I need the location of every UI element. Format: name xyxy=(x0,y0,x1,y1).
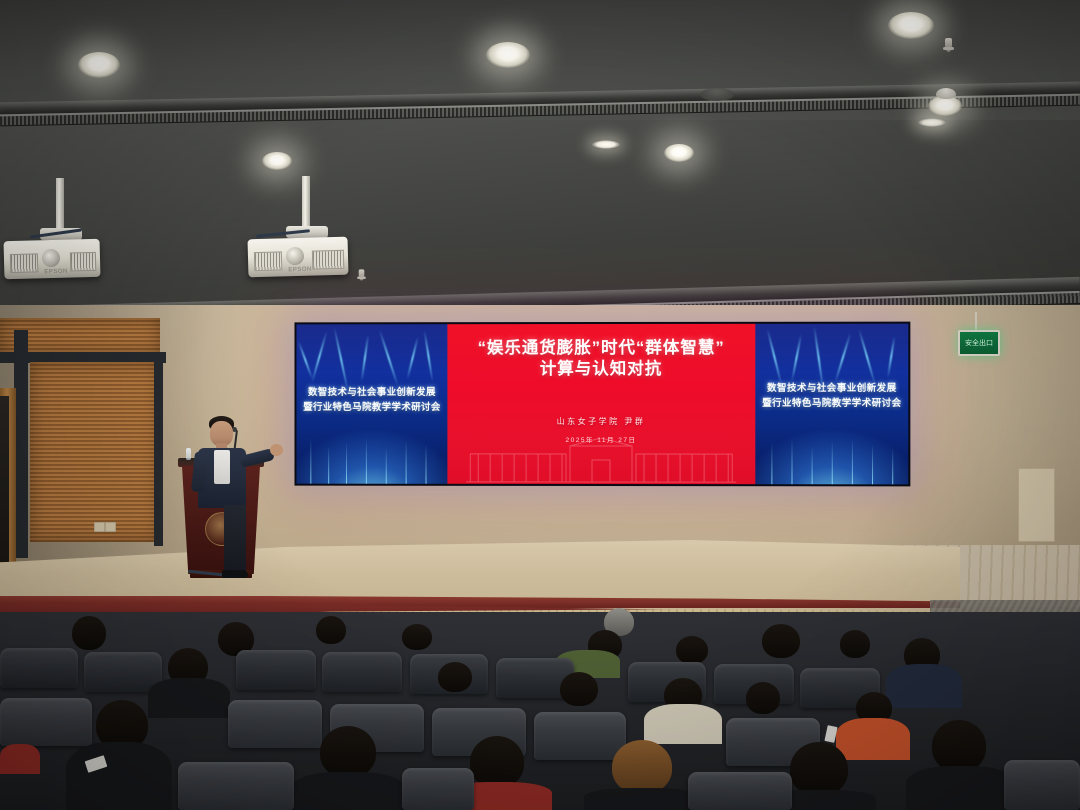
ceiling-downlight-3 xyxy=(888,12,934,39)
audience-head xyxy=(762,624,800,658)
auditorium-seat[interactable] xyxy=(228,700,322,748)
auditorium-seat[interactable] xyxy=(1004,760,1080,810)
led-title-line-2: 计算与认知对抗 xyxy=(447,359,755,380)
led-left-line2: 暨行业特色马院教学学术研讨会 xyxy=(296,401,447,416)
led-panel-right: 数智技术与社会事业创新发展 暨行业特色马院教学学术研讨会 xyxy=(755,324,908,485)
projector-2-vent-grill-2 xyxy=(312,250,344,270)
projector-1-vent-grill xyxy=(10,253,39,273)
audience-head xyxy=(746,682,780,714)
auditorium-seat[interactable] xyxy=(322,652,402,692)
led-right-text-block: 数智技术与社会事业创新发展 暨行业特色马院教学学术研讨会 xyxy=(755,382,908,412)
projector-1-mount-pole xyxy=(56,178,64,232)
led-panel-left: 数智技术与社会事业创新发展 暨行业特色马院教学学术研讨会 xyxy=(296,324,447,484)
auditorium-seat[interactable] xyxy=(178,762,294,810)
audience-head xyxy=(320,726,376,778)
auditorium-seat[interactable] xyxy=(0,648,78,688)
led-panel-center: “娱乐通货膨胀”时代“群体智慧” 计算与认知对抗 山东女子学院 尹群 2025年… xyxy=(447,324,755,484)
audience-shoulders xyxy=(836,718,910,760)
projector-1-brand-label: EPSON xyxy=(44,269,68,276)
led-title-line-1: “娱乐通货膨胀”时代“群体智慧” xyxy=(447,338,755,359)
smoke-detector-icon xyxy=(936,88,956,99)
led-title-block: “娱乐通货膨胀”时代“群体智慧” 计算与认知对抗 xyxy=(447,338,755,379)
ceiling-downlight-5 xyxy=(664,144,694,162)
audience-shoulders xyxy=(644,704,722,744)
audience-head xyxy=(790,742,848,796)
auditorium-seat[interactable] xyxy=(402,768,474,810)
led-affiliation: 山东女子学院 尹群 xyxy=(447,416,755,427)
auditorium-seat[interactable] xyxy=(534,712,626,760)
audience-head xyxy=(612,740,672,794)
projector-2-mount-pole xyxy=(302,176,310,230)
sprinkler-head-icon xyxy=(945,38,952,52)
projector-2: EPSON xyxy=(248,237,349,278)
led-right-line1: 数智技术与社会事业创新发展 xyxy=(755,382,908,397)
ceiling-downlight-1 xyxy=(78,52,120,78)
audience-head xyxy=(316,616,346,644)
audience-head xyxy=(840,630,870,658)
ceiling-speaker-dome xyxy=(700,88,734,101)
audience-head xyxy=(932,720,986,772)
exit-sign-label: 安全出口 xyxy=(965,340,993,347)
audience-shoulders xyxy=(292,772,404,810)
projector-2-brand-label: EPSON xyxy=(288,267,312,274)
audience-shoulders xyxy=(148,678,230,718)
ceiling-downlight-6 xyxy=(928,96,962,116)
audience-shoulders xyxy=(584,788,700,810)
auditorium-seat[interactable] xyxy=(0,698,92,746)
audience-shoulders xyxy=(66,742,172,810)
side-door-glass xyxy=(0,396,9,562)
led-left-text-block: 数智技术与社会事业创新发展 暨行业特色马院教学学术研讨会 xyxy=(296,386,447,415)
audience-head xyxy=(470,736,524,788)
auditorium-photo: EPSON EPSON 安全出口 xyxy=(0,0,1080,810)
auditorium-seat[interactable] xyxy=(688,772,792,810)
wall-socket-plate-left[interactable] xyxy=(94,522,105,532)
projector-2-lens xyxy=(286,247,304,265)
exit-sign: 安全出口 xyxy=(958,330,1000,356)
projector-1: EPSON xyxy=(4,239,101,279)
wall-trim-vertical-right xyxy=(154,360,163,546)
wall-access-panel-right[interactable] xyxy=(1018,468,1055,542)
audience-shoulders xyxy=(886,664,962,708)
audience-head xyxy=(402,624,432,650)
projector-1-vent-grill-2 xyxy=(70,252,97,272)
speaker-shirt xyxy=(214,450,230,484)
speaker-gesturing-hand xyxy=(270,444,283,456)
led-building-watermark-icon xyxy=(466,438,736,484)
auditorium-seat[interactable] xyxy=(84,652,162,692)
speaker-legs xyxy=(224,505,246,575)
led-right-line2: 暨行业特色马院教学学术研讨会 xyxy=(755,397,908,412)
ceiling-downlight-2 xyxy=(486,42,530,68)
projector-1-lens xyxy=(42,249,60,267)
audience-head xyxy=(438,662,472,692)
audience-head xyxy=(560,672,598,706)
ceiling-striplight-1 xyxy=(592,140,620,149)
ceiling-downlight-4 xyxy=(262,152,292,170)
auditorium-seat[interactable] xyxy=(236,650,316,690)
audience-head xyxy=(676,636,708,664)
led-display-screen: 数智技术与社会事业创新发展 暨行业特色马院教学学术研讨会 “娱乐通货膨胀”时代“… xyxy=(294,322,910,487)
projector-2-vent-grill xyxy=(254,251,283,271)
wood-slat-panel-main xyxy=(30,362,160,542)
wall-socket-plate-left-2[interactable] xyxy=(105,522,116,532)
sprinkler-head-icon-2 xyxy=(359,269,365,280)
audience-shoulders xyxy=(906,766,1016,810)
audience-shoulders xyxy=(0,744,40,774)
wall-trim-vertical-left xyxy=(14,330,28,558)
speaker-shoe xyxy=(222,570,248,578)
audience-head xyxy=(72,616,106,650)
exit-sign-stem xyxy=(975,312,977,330)
led-left-line1: 数智技术与社会事业创新发展 xyxy=(296,386,447,401)
ceiling-striplight-2 xyxy=(918,118,946,127)
water-bottle[interactable] xyxy=(186,448,191,460)
